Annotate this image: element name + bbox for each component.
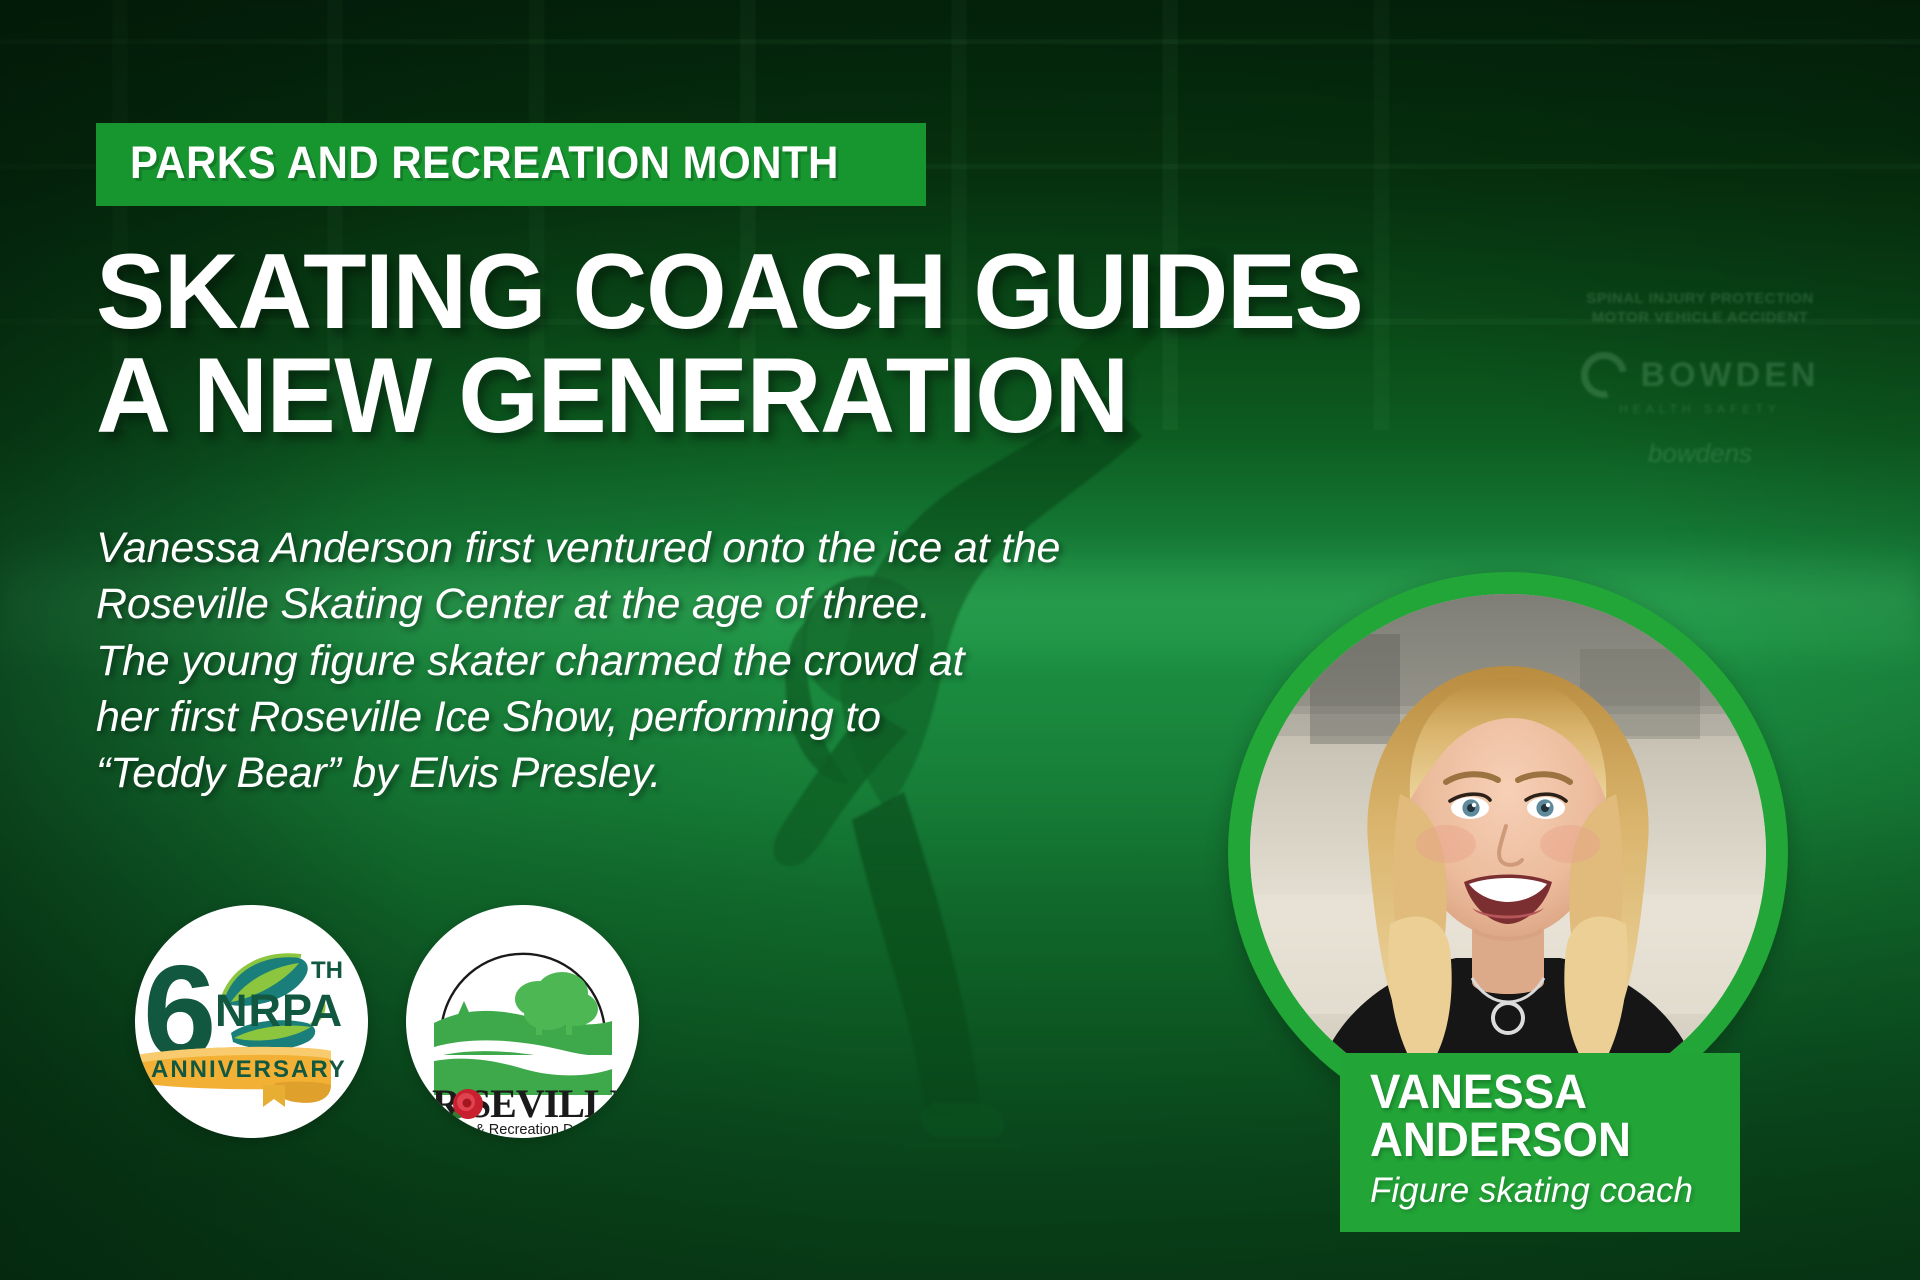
headline-line-2: A NEW GENERATION	[96, 344, 1473, 448]
rink-ad-brand-row: BOWDEN	[1510, 352, 1890, 398]
body-line-4: her first Roseville Ice Show, performing…	[96, 689, 1216, 745]
portrait	[1228, 572, 1788, 1132]
nrpa-anniversary-logo: 6 NRPA TH	[135, 905, 368, 1138]
eyebrow-label: PARKS AND RECREATION MONTH	[130, 140, 839, 185]
logo-row: 6 NRPA TH	[135, 905, 639, 1138]
svg-text:Parks & Recreation Department: Parks & Recreation Department	[434, 1122, 639, 1138]
rink-ad-script: bowdens	[1510, 438, 1890, 469]
body-line-5: “Teddy Bear” by Elvis Presley.	[96, 745, 1216, 801]
person-role: Figure skating coach	[1370, 1170, 1710, 1212]
rink-ad-line1: SPINAL INJURY PROTECTION	[1510, 290, 1890, 307]
roseville-parks-logo: R SEVILLE Parks & Recreation Department	[406, 905, 639, 1138]
headline-line-1: SKATING COACH GUIDES	[96, 240, 1473, 344]
avatar	[1250, 594, 1766, 1110]
rink-ad-brand-sub: HEALTH SAFETY	[1510, 402, 1890, 416]
svg-text:ANNIVERSARY: ANNIVERSARY	[151, 1056, 347, 1083]
headline: SKATING COACH GUIDES A NEW GENERATION	[96, 240, 1516, 448]
rink-ad-line2: MOTOR VEHICLE ACCIDENT	[1510, 309, 1890, 326]
rink-board-advertisement: SPINAL INJURY PROTECTION MOTOR VEHICLE A…	[1510, 290, 1890, 469]
svg-text:TH: TH	[311, 957, 343, 984]
body-line-2: Roseville Skating Center at the age of t…	[96, 576, 1216, 632]
swirl-icon	[1572, 343, 1636, 407]
poster-root: SPINAL INJURY PROTECTION MOTOR VEHICLE A…	[0, 0, 1920, 1280]
rink-ad-brand: BOWDEN	[1641, 356, 1820, 395]
person-first-name: VANESSA	[1370, 1069, 1693, 1117]
body-line-3: The young figure skater charmed the crow…	[96, 633, 1216, 689]
name-plate: VANESSA ANDERSON Figure skating coach	[1340, 1053, 1740, 1232]
body-line-1: Vanessa Anderson first ventured onto the…	[96, 520, 1216, 576]
eyebrow-banner: PARKS AND RECREATION MONTH	[96, 123, 926, 206]
person-last-name: ANDERSON	[1370, 1117, 1693, 1165]
body-copy: Vanessa Anderson first ventured onto the…	[96, 520, 1216, 802]
svg-text:NRPA: NRPA	[215, 985, 343, 1036]
